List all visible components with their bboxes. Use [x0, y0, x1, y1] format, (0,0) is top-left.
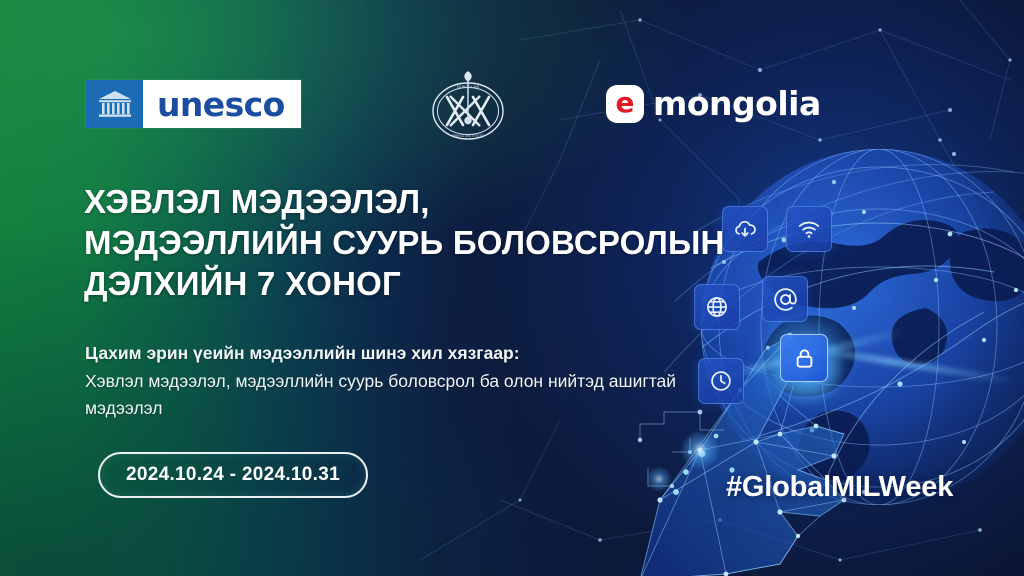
event-date-badge: 2024.10.24 - 2024.10.31 — [98, 452, 368, 498]
emongolia-e-badge: e — [606, 85, 644, 123]
svg-text:MONGOLIAN: MONGOLIAN — [457, 85, 480, 89]
emongolia-wordmark: mongolia — [653, 84, 821, 123]
clock-icon[interactable] — [698, 358, 744, 404]
wifi-icon[interactable] — [786, 206, 832, 252]
headline-line-3: ДЭЛХИЙН 7 ХОНОГ — [84, 263, 724, 304]
unesco-temple-icon — [86, 80, 143, 128]
subtitle: Цахим эрин үеийн мэдээллийн шинэ хил хяз… — [85, 340, 685, 422]
cloud-download-icon[interactable] — [722, 206, 768, 252]
headline: ХЭВЛЭЛ МЭДЭЭЛЭЛ, МЭДЭЭЛЛИЙН СУУРЬ БОЛОВС… — [84, 181, 724, 304]
subtitle-lead: Цахим эрин үеийн мэдээллийн шинэ хил хяз… — [85, 340, 685, 367]
subtitle-body: Хэвлэл мэдээлэл, мэдээллийн суурь боловс… — [85, 368, 685, 422]
press-institute-emblem[interactable]: MONGOLIAN PRESS INSTITUTE — [420, 64, 516, 150]
lock-icon[interactable] — [780, 334, 828, 382]
unesco-wordmark-text: unesco — [157, 88, 285, 121]
hashtag-label: #GlobalMILWeek — [726, 471, 953, 504]
emongolia-logo[interactable]: e mongolia — [606, 84, 821, 123]
headline-line-1: ХЭВЛЭЛ МЭДЭЭЛЭЛ, — [84, 181, 724, 222]
unesco-wordmark: unesco — [143, 80, 301, 128]
unesco-logo[interactable]: unesco — [86, 80, 301, 128]
logo-row: unesco MON — [0, 34, 1024, 98]
emongolia-badge-letter: e — [616, 89, 635, 117]
headline-line-2: МЭДЭЭЛЛИЙН СУУРЬ БОЛОВСРОЛЫН — [84, 222, 724, 263]
poster-canvas: unesco MON — [0, 0, 1024, 576]
svg-text:PRESS INSTITUTE: PRESS INSTITUTE — [452, 134, 484, 138]
at-sign-icon[interactable] — [762, 276, 808, 322]
